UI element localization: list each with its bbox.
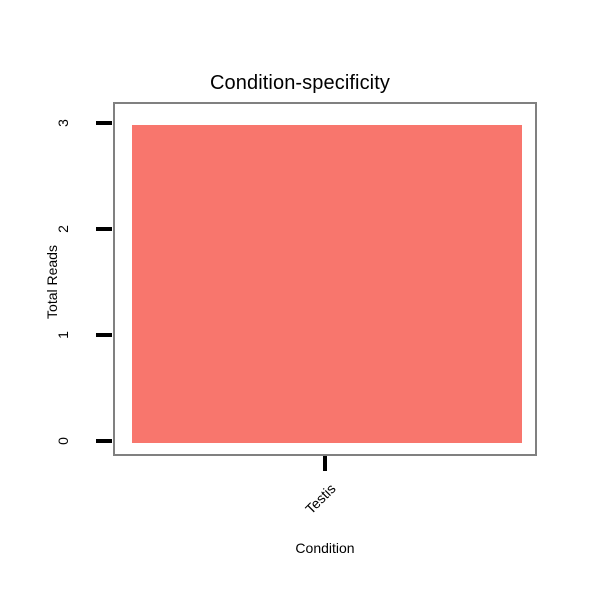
- bars-layer: [115, 104, 535, 454]
- y-axis-tick: [96, 333, 112, 337]
- y-axis-tick: [96, 227, 112, 231]
- chart-title: Condition-specificity: [0, 71, 600, 95]
- plot-panel: [113, 102, 537, 456]
- chart-container: Condition-specificity 0123 Testis Total …: [0, 0, 600, 600]
- x-axis-label: Condition: [113, 540, 537, 556]
- y-axis-tick-label: 0: [56, 421, 70, 461]
- y-axis-tick: [96, 121, 112, 125]
- x-axis-tick: [323, 456, 327, 471]
- y-axis-label: Total Reads: [44, 182, 60, 382]
- x-axis-tick-label: Testis: [229, 481, 338, 590]
- y-axis-tick: [96, 439, 112, 443]
- bar: [132, 125, 521, 443]
- y-axis-tick-label: 3: [56, 103, 70, 143]
